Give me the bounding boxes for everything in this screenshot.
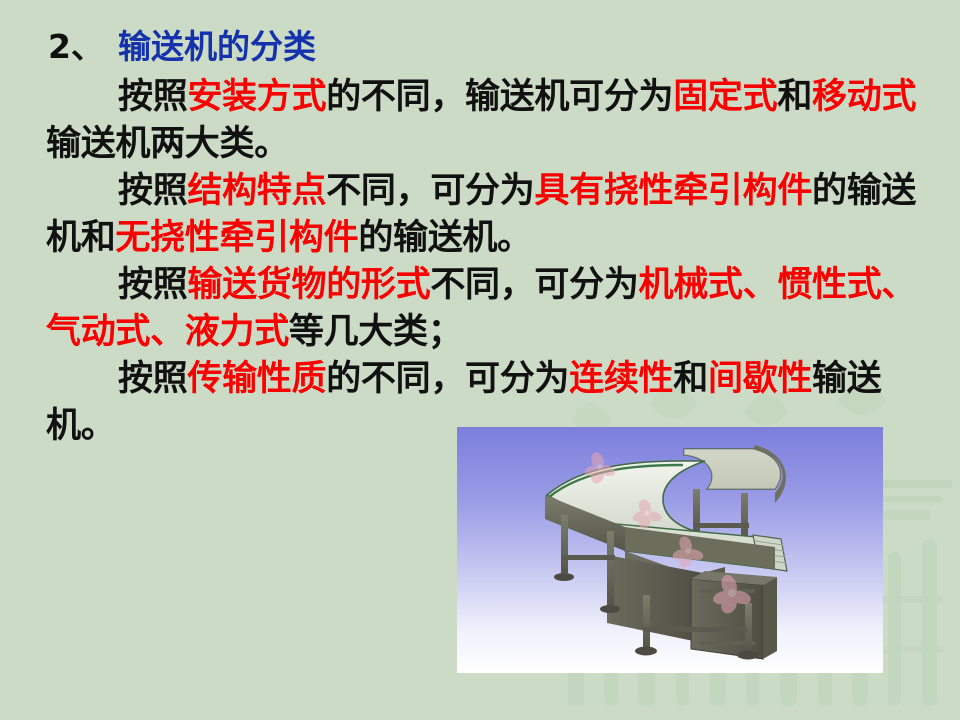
highlighted-term: 具有挠性牵引构件 <box>534 171 812 211</box>
highlighted-term: 输送货物的形式 <box>187 265 430 305</box>
highlighted-term: 间歇性 <box>708 359 812 399</box>
highlighted-term: 结构特点 <box>187 171 326 211</box>
text-run: 按照 <box>118 359 187 399</box>
text-run: 按照 <box>118 77 187 117</box>
slide-canvas: 2、输送机的分类 按照安装方式的不同，输送机可分为固定式和移动式输送机两大类。 … <box>0 0 960 720</box>
text-run: 的不同，输送机可分为 <box>326 77 673 117</box>
page-title: 2、输送机的分类 <box>48 26 316 68</box>
paragraph-3: 按照输送货物的形式不同，可分为机械式、惯性式、气动式、液力式等几大类； <box>46 262 946 356</box>
text-run: 按照 <box>118 171 187 211</box>
conveyor-illustration <box>457 427 883 673</box>
page-title-text: 输送机的分类 <box>118 27 316 66</box>
highlighted-term: 固定式 <box>673 77 777 117</box>
text-run: 和 <box>673 359 708 399</box>
page-title-number: 2、 <box>48 27 104 66</box>
paragraph-2: 按照结构特点不同，可分为具有挠性牵引构件的输送机和无挠性牵引构件的输送机。 <box>46 168 946 262</box>
text-run: 的不同，可分为 <box>326 359 569 399</box>
highlighted-term: 无挠性牵引构件 <box>115 218 358 258</box>
text-run: 按照 <box>118 265 187 305</box>
conveyor-photo <box>457 427 883 673</box>
body-text-block: 按照安装方式的不同，输送机可分为固定式和移动式输送机两大类。 按照结构特点不同，… <box>46 74 946 450</box>
text-run: 不同，可分为 <box>430 265 638 305</box>
text-run: 不同，可分为 <box>326 171 534 211</box>
text-run: 输送机两大类。 <box>46 124 289 164</box>
highlighted-term: 安装方式 <box>187 77 326 117</box>
text-run: 和 <box>777 77 812 117</box>
paragraph-1: 按照安装方式的不同，输送机可分为固定式和移动式输送机两大类。 <box>46 74 946 168</box>
highlighted-term: 连续性 <box>569 359 673 399</box>
highlighted-term: 传输性质 <box>187 359 326 399</box>
highlighted-term: 移动式 <box>812 77 916 117</box>
text-run: 等几大类； <box>289 312 463 352</box>
text-run: 的输送机。 <box>358 218 532 258</box>
